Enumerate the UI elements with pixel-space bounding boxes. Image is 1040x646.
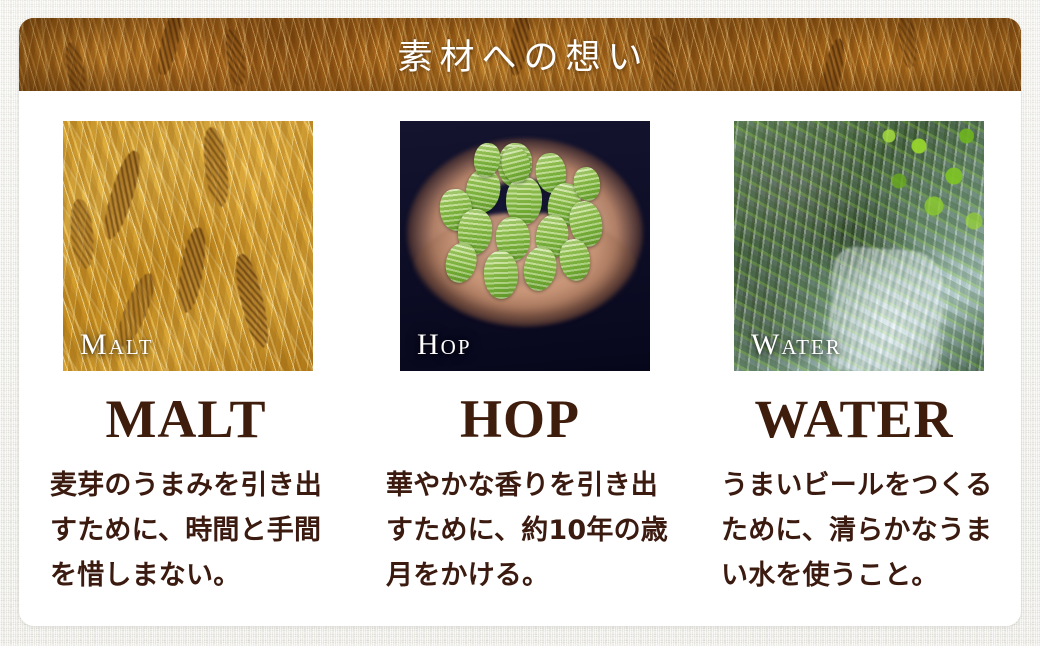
water-photo-label: Water: [751, 330, 842, 360]
ingredients-card: 素材への想い Malt MALT 麦芽のうまみを引き出すために、時間と手間を惜し…: [19, 18, 1021, 626]
ingredient-column-malt: Malt MALT 麦芽のうまみを引き出すために、時間と手間を惜しまない。: [19, 121, 353, 598]
hop-cone-icon: [483, 250, 519, 299]
barley-ear-icon: [98, 148, 146, 242]
barley-ear-icon: [68, 198, 96, 270]
hop-description: 華やかな香りを引き出すために、約10年の歳月をかける。: [386, 463, 678, 598]
hop-heading: HOP: [369, 392, 671, 446]
ingredient-column-hop: Hop HOP 華やかな香りを引き出すために、約10年の歳月をかける。: [353, 121, 687, 598]
barley-ear-icon: [230, 252, 273, 350]
malt-photo-label: Malt: [80, 330, 154, 360]
hop-photo-label: Hop: [417, 330, 472, 360]
malt-heading: MALT: [35, 392, 337, 446]
barley-ear-icon: [200, 126, 232, 208]
section-title: 素材への想い: [19, 18, 1021, 91]
water-description: うまいビールをつくるために、清らかなうまい水を使うこと。: [721, 463, 1013, 598]
waterfall-shape: [826, 245, 946, 371]
section-banner: 素材への想い: [19, 18, 1021, 91]
ingredients-columns: Malt MALT 麦芽のうまみを引き出すために、時間と手間を惜しまない。 Ho…: [19, 91, 1021, 598]
water-heading: WATER: [703, 392, 1005, 446]
ingredient-column-water: Water WATER うまいビールをつくるために、清らかなうまい水を使うこと。: [687, 121, 1021, 598]
malt-description: 麦芽のうまみを引き出すために、時間と手間を惜しまない。: [50, 463, 342, 598]
barley-ear-icon: [174, 226, 209, 314]
water-photo: Water: [734, 121, 984, 371]
hop-cones-cluster: [440, 143, 610, 311]
hop-photo: Hop: [400, 121, 650, 371]
malt-photo: Malt: [63, 121, 313, 371]
